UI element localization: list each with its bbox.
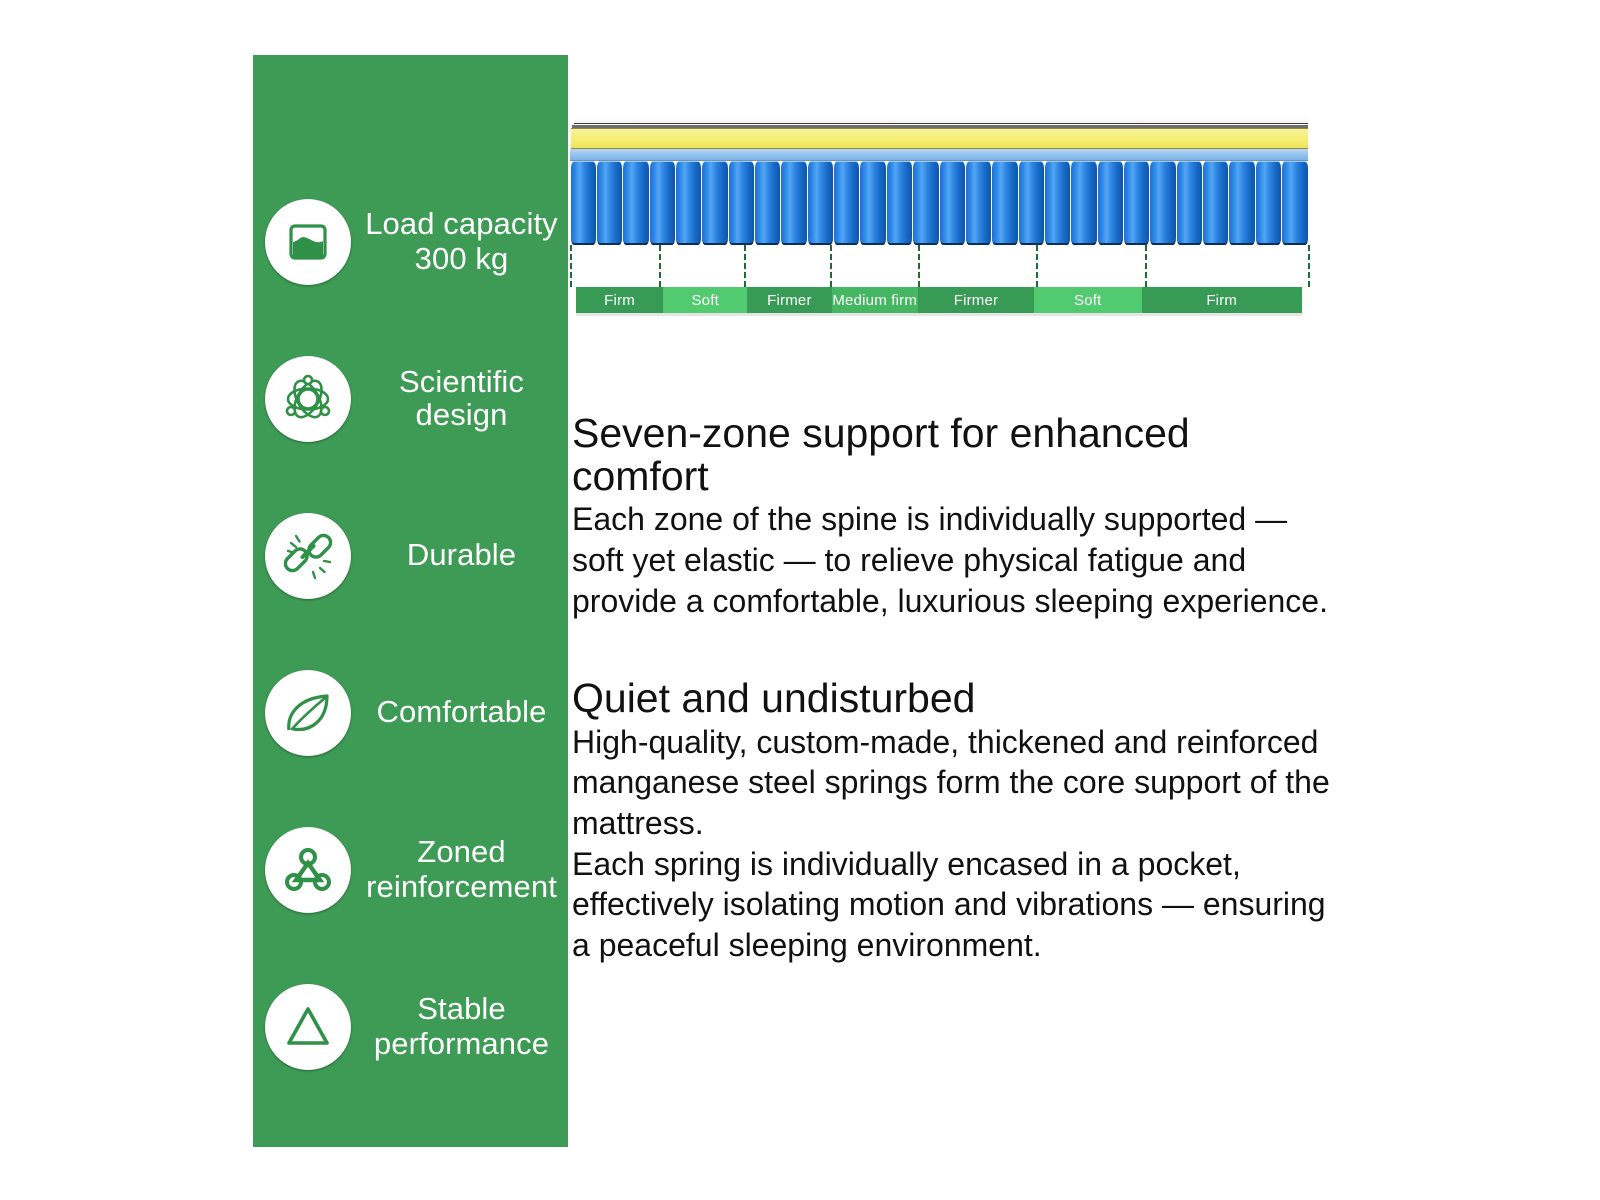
pocket-spring [1203,161,1228,245]
feature-label-stable-performance: Stable performance [351,992,568,1060]
pocket-spring [1177,161,1202,245]
section-1-body: Each zone of the spine is individually s… [572,499,1332,621]
zone-edge-0 [570,245,572,287]
pocket-spring [1045,161,1070,245]
section-1-heading: Seven-zone support for enhanced comfort [572,412,1332,497]
pocket-spring [1071,161,1096,245]
zone-bar-shadow [576,313,1302,316]
pocket-spring [913,161,938,245]
pocket-spring [966,161,991,245]
pocket-spring [781,161,806,245]
pocket-spring [1124,161,1149,245]
mattress-icon [265,199,351,285]
zone-label-firm-6: Firm [1142,287,1302,313]
zone-legend-bar: FirmSoftFirmerMedium firmFirmerSoftFirm [576,287,1302,313]
feature-label-durable: Durable [351,539,568,572]
section-2-body: High-quality, custom-made, thickened and… [572,722,1332,966]
section-2-heading: Quiet and undisturbed [572,677,1332,720]
felt-layer [570,149,1308,161]
pocket-spring [623,161,648,245]
pocket-spring-layer [570,161,1308,245]
pocket-spring [1229,161,1254,245]
zone-label-firmer-4: Firmer [918,287,1034,313]
cover-layer [574,118,1308,124]
zone-divider-group [570,245,1308,287]
feature-label-zoned-reinforcement: Zoned reinforcement [351,835,568,903]
zone-divider-3 [918,245,920,287]
zone-divider-2 [830,245,832,287]
feature-label-load-capacity: Load capacity 300 kg [351,207,568,275]
zone-divider-5 [1145,245,1147,287]
label-line: Stable [417,991,506,1026]
pocket-spring [702,161,727,245]
zone-label-soft-1: Soft [663,287,747,313]
feature-label-scientific-design: Scientific design [351,366,568,432]
paragraph: Each zone of the spine is individually s… [572,499,1332,621]
pocket-spring [571,161,596,245]
pocket-spring [1150,161,1175,245]
zone-divider-0 [659,245,661,287]
pocket-spring [992,161,1017,245]
pocket-spring [1098,161,1123,245]
feature-scientific-design: Scientific design [253,320,568,477]
pocket-spring [676,161,701,245]
pocket-spring [834,161,859,245]
feature-zoned-reinforcement: Zoned reinforcement [253,791,568,948]
feature-label-comfortable: Comfortable [351,696,568,729]
feature-stable-performance: Stable performance [253,948,568,1105]
pocket-spring [887,161,912,245]
triangle-icon [265,984,351,1070]
label-line: performance [374,1026,549,1061]
pocket-spring [650,161,675,245]
label-line: 300 kg [415,241,509,276]
zone-label-soft-5: Soft [1034,287,1141,313]
pocket-spring [1019,161,1044,245]
leaf-icon [265,670,351,756]
zone-edge-1 [1308,245,1310,287]
paragraph: Each spring is individually encased in a… [572,844,1332,966]
feature-load-capacity: Load capacity 300 kg [253,163,568,320]
pocket-spring [940,161,965,245]
pocket-spring [808,161,833,245]
paragraph: High-quality, custom-made, thickened and… [572,722,1332,844]
feature-comfortable: Comfortable [253,634,568,791]
zone-label-firmer-2: Firmer [747,287,831,313]
zone-divider-1 [744,245,746,287]
pocket-spring [729,161,754,245]
feature-durable: Durable [253,477,568,634]
pocket-spring [1282,161,1307,245]
pocket-spring [755,161,780,245]
section-seven-zone-support: Seven-zone support for enhanced comfort … [572,412,1332,621]
label-line: Zoned [417,834,505,869]
zone-label-firm-0: Firm [576,287,663,313]
molecule-icon [265,827,351,913]
foam-layer [571,128,1308,149]
pocket-spring [597,161,622,245]
pocket-spring [1256,161,1281,245]
label-line: Load capacity [365,206,558,241]
chain-link-icon [265,513,351,599]
mattress-cutaway-diagram: FirmSoftFirmerMedium firmFirmerSoftFirm [568,118,1308,314]
zone-divider-4 [1036,245,1038,287]
section-quiet-undisturbed: Quiet and undisturbed High-quality, cust… [572,677,1332,965]
product-description: Seven-zone support for enhanced comfort … [572,412,1332,966]
atom-icon [265,356,351,442]
label-line: reinforcement [366,869,557,904]
zone-label-medium-firm-3: Medium firm [832,287,918,313]
pocket-spring [860,161,885,245]
features-sidebar: Load capacity 300 kg Scientific design [253,55,568,1147]
